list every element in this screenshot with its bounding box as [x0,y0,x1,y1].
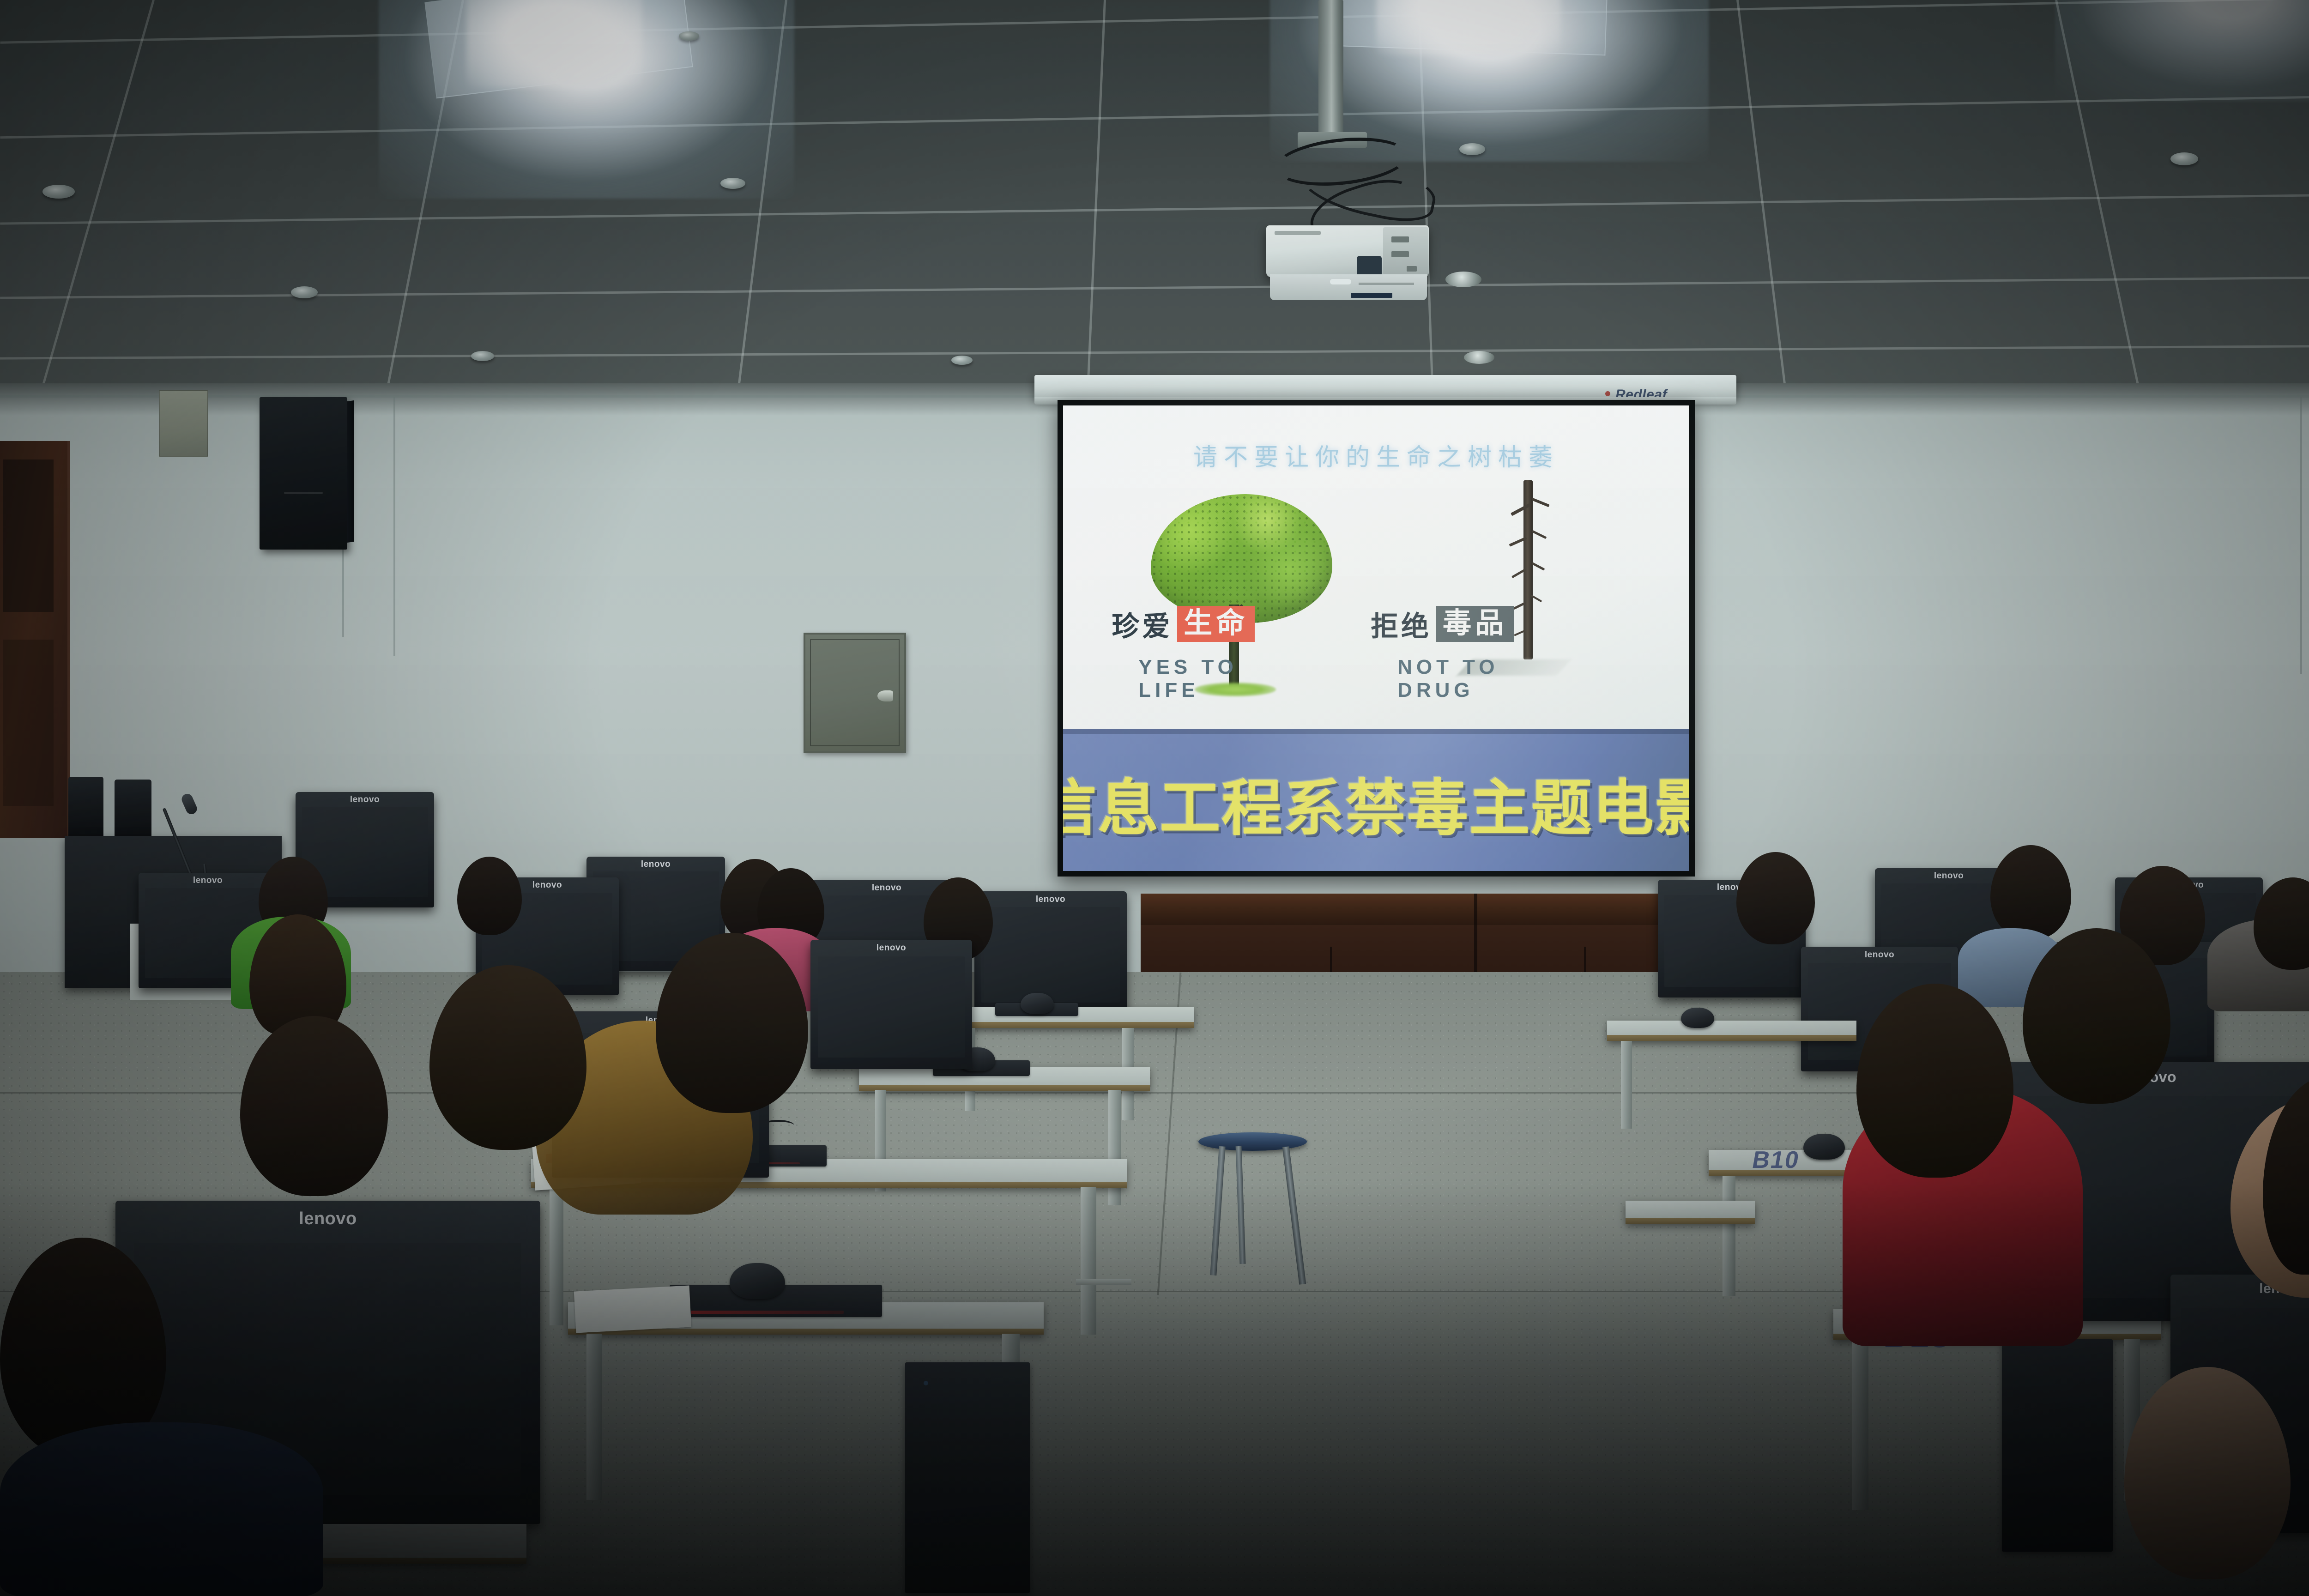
paper-sheet [574,1286,691,1333]
sprinkler-icon [1464,351,1494,364]
slide-banner: 电子信息工程系禁毒主题电影展播 [1063,729,1689,871]
round-stool[interactable] [1198,1132,1307,1151]
wall-speaker [260,397,347,550]
smoke-detector-icon [471,351,494,361]
podium-speaker-left [68,777,103,838]
computer-desk [1626,1201,1755,1224]
desk-label: B10 [1750,1146,1802,1174]
projection-screen: 请不要让你的生命之树枯萎 [1058,400,1695,877]
computer-mouse[interactable] [1021,993,1054,1014]
classroom-door[interactable] [0,441,70,838]
student-torso [0,1422,323,1596]
ceiling-light-right [2055,0,2309,102]
projector-front-face [1270,274,1427,300]
computer-mouse[interactable] [1803,1134,1845,1160]
sprinkler-icon [1445,272,1481,287]
slogan-right-prefix: 拒绝 [1371,604,1432,644]
monitor-brand-logo: lenovo [872,883,901,893]
monitor-lenovo: lenovo [974,891,1127,1014]
monitor-brand-logo: lenovo [1036,895,1065,905]
projected-slide: 请不要让你的生命之树枯萎 [1063,405,1689,871]
smoke-detector-icon [42,185,75,199]
monitor-brand-logo: lenovo [1934,871,1964,881]
computer-tower [2002,1339,2113,1552]
slide-slogans: 珍爱 生命 YES TO LIFE 拒绝 毒品 NOT TO DRUG [1088,600,1677,669]
podium-speaker-right [115,780,151,839]
smoke-detector-icon [720,178,745,189]
slogan-left-prefix: 珍爱 [1112,604,1173,644]
smoke-detector-icon [1459,143,1485,155]
monitor-brand-logo: lenovo [1865,950,1894,960]
computer-mouse[interactable] [730,1263,785,1299]
slide-headline: 请不要让你的生命之树枯萎 [1063,438,1689,472]
monitor-brand-logo: lenovo [350,795,380,805]
slogan-left-english: YES TO LIFE [1138,656,1255,702]
slogan-left-box: 生命 [1177,606,1255,642]
smoke-detector-icon [679,31,699,41]
monitor-brand-logo: lenovo [532,880,562,890]
slogan-right-english: NOT TO DRUG [1397,656,1514,702]
electrical-panel-box[interactable] [804,633,906,753]
monitor-brand-logo: lenovo [193,876,223,886]
computer-tower [905,1362,1030,1593]
banner-title: 电子信息工程系禁毒主题电影展播 [1063,759,1689,847]
smoke-detector-icon [2170,152,2198,165]
slide-upper-white-area: 请不要让你的生命之树枯萎 [1063,405,1689,729]
projection-screen-housing: Redleaf [1034,375,1736,399]
wood-cornice [1141,894,1706,927]
projector-mount-pole [1318,0,1343,139]
computer-desk [1607,1021,1856,1041]
slide-artwork: 珍爱 生命 YES TO LIFE 拒绝 毒品 NOT TO DRUG [1063,490,1689,719]
monitor-brand-logo: lenovo [299,1209,357,1229]
monitor-lenovo: lenovo [810,940,972,1069]
computer-mouse[interactable] [1681,1008,1714,1028]
monitor-brand-logo: lenovo [876,943,906,953]
ceiling [0,0,2309,402]
slogan-right-box: 毒品 [1436,606,1514,642]
classroom-photo-scene: Redleaf 请不要让你的生命之树枯萎 [0,0,2309,1596]
smoke-detector-icon [291,286,318,298]
wall-mounted-beige-box [159,390,208,457]
smoke-detector-icon [951,356,973,365]
monitor-brand-logo: lenovo [641,859,671,870]
panel-latch[interactable] [877,690,893,701]
